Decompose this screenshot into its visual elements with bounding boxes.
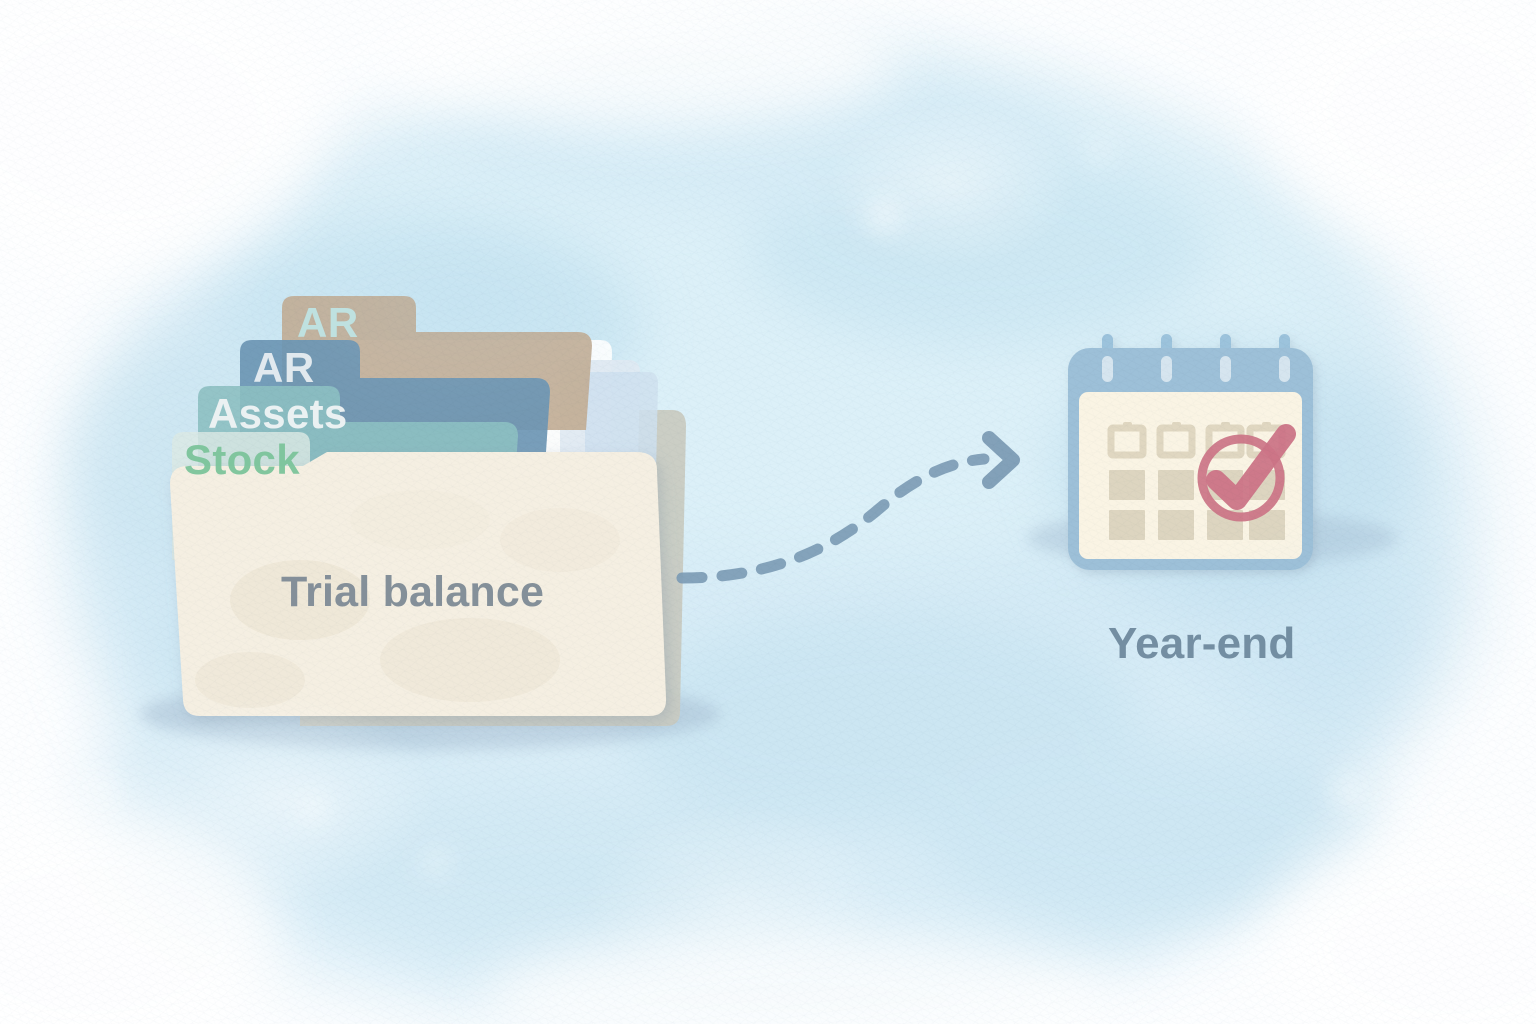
folder-front-panel[interactable] (170, 452, 666, 716)
calendar-icon[interactable] (1068, 334, 1313, 570)
illustration-canvas: AR AR Assets Stock Trial balance Year-en… (0, 0, 1536, 1024)
illustration-artwork (0, 0, 1536, 1024)
